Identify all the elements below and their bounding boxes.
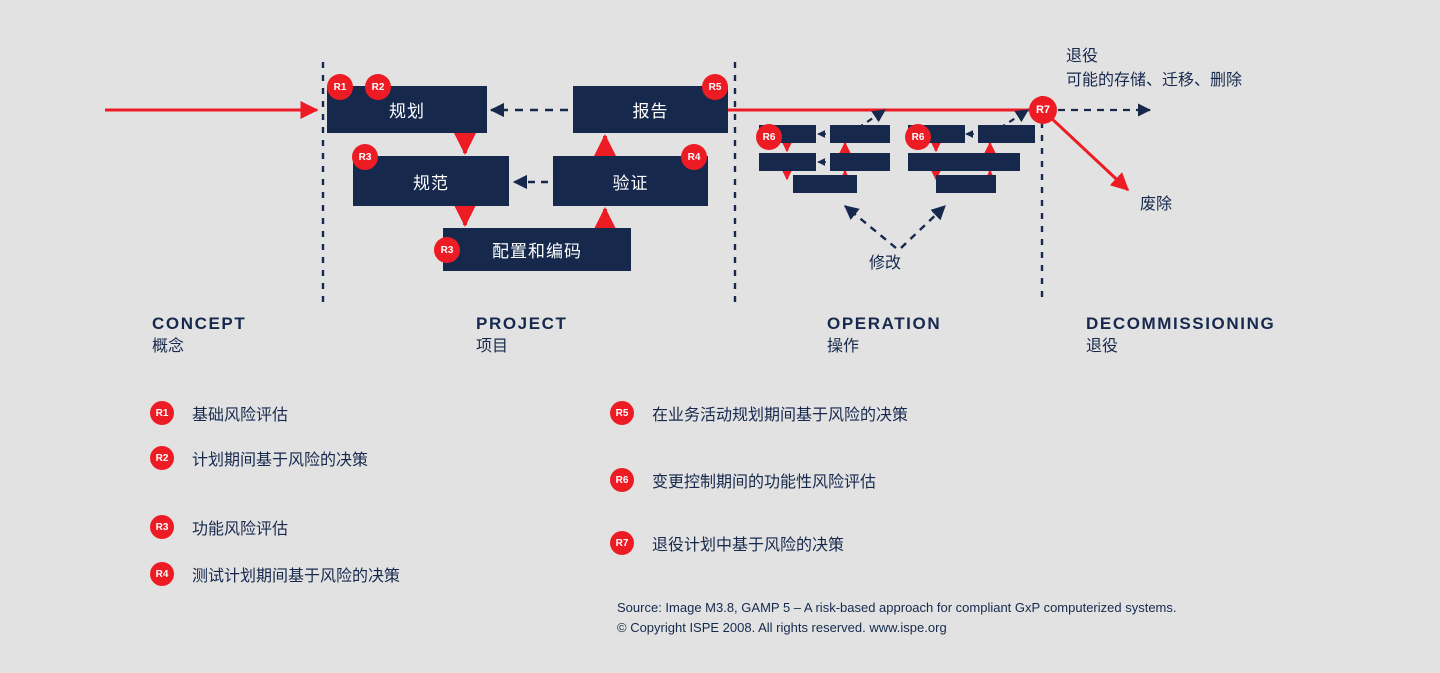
phase-project: PROJECT 项目 xyxy=(476,313,568,358)
badge-label: R5 xyxy=(709,82,722,93)
risk-badge-r5-report[interactable]: R5 xyxy=(702,74,728,100)
risk-badge-r3-config[interactable]: R3 xyxy=(434,237,460,263)
legend-item-r7[interactable]: R7 退役计划中基于风险的决策 xyxy=(610,531,844,555)
risk-badge-r6-left[interactable]: R6 xyxy=(756,124,782,150)
process-box-label: 配置和编码 xyxy=(492,237,582,262)
phase-concept: CONCEPT 概念 xyxy=(152,313,246,358)
operation-mini-box xyxy=(830,125,890,143)
risk-badge-r1-planning[interactable]: R1 xyxy=(327,74,353,100)
retire-label: 废除 xyxy=(1140,193,1172,217)
badge-label: R2 xyxy=(372,82,385,93)
phase-name-zh: 操作 xyxy=(827,336,941,358)
legend-text-r6: 变更控制期间的功能性风险评估 xyxy=(652,468,876,492)
operation-mini-box xyxy=(936,175,996,193)
badge-label: R7 xyxy=(1036,104,1050,116)
legend-text-r7: 退役计划中基于风险的决策 xyxy=(652,531,844,555)
operation-mini-box xyxy=(759,153,816,171)
risk-badge-r7-decommissioning[interactable]: R7 xyxy=(1029,96,1057,124)
legend-item-r4[interactable]: R4 测试计划期间基于风险的决策 xyxy=(150,562,400,586)
legend-badge-r7: R7 xyxy=(610,531,634,555)
source-citation: Source: Image M3.8, GAMP 5 – A risk-base… xyxy=(617,598,1177,638)
phase-name-en: CONCEPT xyxy=(152,313,246,336)
legend-item-r3[interactable]: R3 功能风险评估 xyxy=(150,515,288,539)
phase-name-en: DECOMMISSIONING xyxy=(1086,313,1275,336)
legend-badge-r4: R4 xyxy=(150,562,174,586)
process-box-label: 规划 xyxy=(389,97,425,122)
phase-name-en: PROJECT xyxy=(476,313,568,336)
legend-badge-r5: R5 xyxy=(610,401,634,425)
operation-mini-box xyxy=(908,153,965,171)
risk-badge-r4-verification[interactable]: R4 xyxy=(681,144,707,170)
operation-mini-box xyxy=(830,153,890,171)
badge-label: R4 xyxy=(688,152,701,163)
operation-mini-box xyxy=(963,153,1020,171)
retire-arrow xyxy=(1049,116,1128,190)
legend-item-r5[interactable]: R5 在业务活动规划期间基于风险的决策 xyxy=(610,401,908,425)
badge-label: R6 xyxy=(763,132,776,143)
legend-item-r1[interactable]: R1 基础风险评估 xyxy=(150,401,288,425)
legend-badge-r3: R3 xyxy=(150,515,174,539)
legend-text-r1: 基础风险评估 xyxy=(192,401,288,425)
legend-text-r2: 计划期间基于风险的决策 xyxy=(192,446,368,470)
change-arrow-right xyxy=(901,206,945,248)
badge-label: R3 xyxy=(441,245,454,256)
badge-label: R1 xyxy=(334,82,347,93)
legend-badge-r6: R6 xyxy=(610,468,634,492)
operation-mini-box xyxy=(793,175,857,193)
legend-badge-r1: R1 xyxy=(150,401,174,425)
process-box-label: 报告 xyxy=(633,97,669,122)
legend-badge-r2: R2 xyxy=(150,446,174,470)
change-label: 修改 xyxy=(869,252,901,276)
legend-item-r2[interactable]: R2 计划期间基于风险的决策 xyxy=(150,446,368,470)
phase-name-zh: 项目 xyxy=(476,336,568,358)
change-arrow-left xyxy=(845,206,896,248)
process-box-label: 规范 xyxy=(413,169,449,194)
risk-badge-r2-planning[interactable]: R2 xyxy=(365,74,391,100)
process-box-config-coding[interactable]: 配置和编码 xyxy=(443,228,631,271)
legend-text-r3: 功能风险评估 xyxy=(192,515,288,539)
legend-text-r5: 在业务活动规划期间基于风险的决策 xyxy=(652,401,908,425)
phase-name-zh: 退役 xyxy=(1086,336,1275,358)
diagram-canvas: 规划 报告 规范 验证 配置和编码 R1 R2 R5 R3 R4 R3 R6 R xyxy=(0,0,1440,673)
risk-badge-r6-right[interactable]: R6 xyxy=(905,124,931,150)
legend-item-r6[interactable]: R6 变更控制期间的功能性风险评估 xyxy=(610,468,876,492)
phase-name-zh: 概念 xyxy=(152,336,246,358)
phase-operation: OPERATION 操作 xyxy=(827,313,941,358)
risk-badge-r3-specification[interactable]: R3 xyxy=(352,144,378,170)
phase-decommissioning: DECOMMISSIONING 退役 xyxy=(1086,313,1275,358)
legend-text-r4: 测试计划期间基于风险的决策 xyxy=(192,562,400,586)
operation-mini-box xyxy=(978,125,1035,143)
phase-name-en: OPERATION xyxy=(827,313,941,336)
decommissioning-note: 退役 可能的存储、迁移、删除 xyxy=(1066,45,1242,93)
badge-label: R3 xyxy=(359,152,372,163)
process-box-label: 验证 xyxy=(613,169,649,194)
process-box-specification[interactable]: 规范 xyxy=(353,156,509,206)
badge-label: R6 xyxy=(912,132,925,143)
